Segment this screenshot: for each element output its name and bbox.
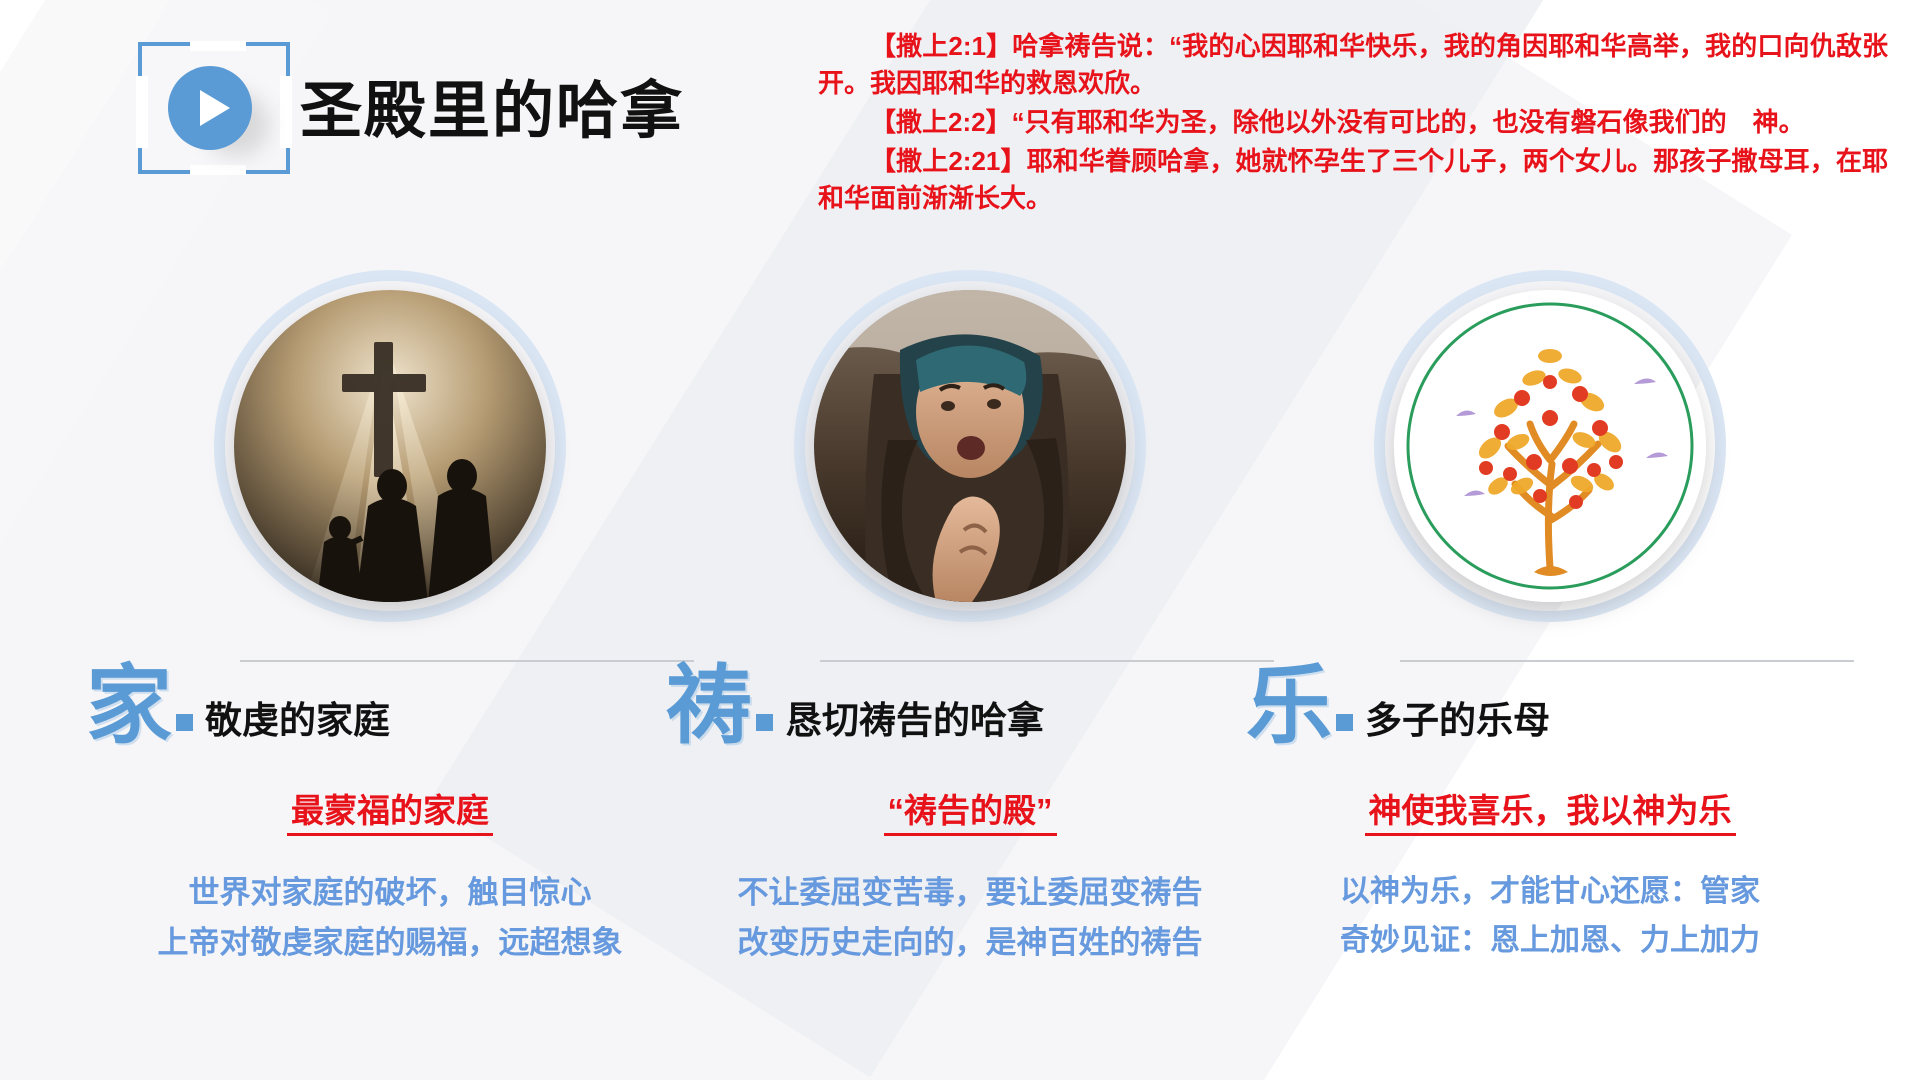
blue-line: 改变历史走向的，是神百姓的祷告 bbox=[660, 918, 1280, 968]
woman-praying-photo bbox=[814, 290, 1126, 602]
red-subtitle-text: 最蒙福的家庭 bbox=[287, 792, 493, 836]
photo-wrap-joy bbox=[1374, 270, 1726, 622]
blue-line: 上帝对敬虔家庭的赐福，远超想象 bbox=[80, 918, 700, 968]
blue-body-family: 世界对家庭的破坏，触目惊心 上帝对敬虔家庭的赐福，远超想象 bbox=[80, 868, 700, 968]
logo-block bbox=[138, 42, 290, 174]
heading-rule bbox=[240, 660, 694, 662]
column-family: 家 敬虔的家庭 最蒙福的家庭 世界对家庭的破坏，触目惊心 上帝对敬虔家庭的赐福，… bbox=[80, 270, 700, 968]
red-subtitle-text: “祷告的殿” bbox=[884, 792, 1057, 836]
scripture-verse-1: 【撒上2:1】哈拿祷告说：“我的心因耶和华快乐，我的角因耶和华高举，我的口向仇敌… bbox=[818, 28, 1888, 102]
blue-line: 世界对家庭的破坏，触目惊心 bbox=[80, 868, 700, 918]
scripture-verse-3: 【撒上2:21】耶和华眷顾哈拿，她就怀孕生了三个儿子，两个女儿。那孩子撒母耳，在… bbox=[818, 143, 1888, 217]
blue-body-prayer: 不让委屈变苦毒，要让委屈变祷告 改变历史走向的，是神百姓的祷告 bbox=[660, 868, 1280, 968]
heading-row-prayer: 祷 恳切祷告的哈拿 bbox=[660, 652, 1280, 762]
big-character-family: 家 bbox=[86, 666, 172, 747]
blue-line: 不让委屈变苦毒，要让委屈变祷告 bbox=[660, 868, 1280, 918]
red-subtitle-text: 神使我喜乐，我以神为乐 bbox=[1365, 792, 1736, 836]
heading-subtitle-family: 敬虔的家庭 bbox=[205, 702, 390, 747]
heading-subtitle-prayer: 恳切祷告的哈拿 bbox=[785, 702, 1044, 747]
heading-row-joy: 乐 多子的乐母 bbox=[1240, 652, 1860, 762]
heading-row-family: 家 敬虔的家庭 bbox=[80, 652, 700, 762]
photo-wrap-family bbox=[214, 270, 566, 622]
silhouette-family-at-cross-photo bbox=[234, 290, 546, 602]
logo-frame-gap-top bbox=[190, 41, 246, 51]
logo-frame-gap-bottom bbox=[190, 165, 246, 175]
page-title: 圣殿里的哈拿 bbox=[300, 60, 684, 150]
heading-subtitle-joy: 多子的乐母 bbox=[1365, 702, 1550, 747]
heading-line: 乐 多子的乐母 bbox=[1246, 666, 1550, 747]
red-subtitle-prayer: “祷告的殿” bbox=[660, 784, 1280, 832]
heading-rule bbox=[820, 660, 1274, 662]
red-subtitle-joy: 神使我喜乐，我以神为乐 bbox=[1240, 784, 1860, 832]
scripture-verse-2: 【撒上2:2】“只有耶和华为圣，除他以外没有可比的，也没有磐石像我们的 神。 bbox=[818, 104, 1888, 141]
blue-line: 奇妙见证：恩上加恩、力上加力 bbox=[1240, 917, 1860, 966]
big-dot-marker bbox=[756, 714, 773, 731]
play-button-icon bbox=[168, 66, 252, 150]
scripture-block: 【撒上2:1】哈拿祷告说：“我的心因耶和华快乐，我的角因耶和华高举，我的口向仇敌… bbox=[818, 28, 1888, 219]
play-triangle-icon bbox=[200, 90, 230, 126]
heading-line: 家 敬虔的家庭 bbox=[86, 666, 390, 747]
red-subtitle-family: 最蒙福的家庭 bbox=[80, 784, 700, 832]
blue-line: 以神为乐，才能甘心还愿：管家 bbox=[1240, 868, 1860, 917]
big-character-prayer: 祷 bbox=[666, 666, 752, 747]
heading-line: 祷 恳切祷告的哈拿 bbox=[666, 666, 1044, 747]
big-dot-marker bbox=[1336, 714, 1353, 731]
column-joy: 乐 多子的乐母 神使我喜乐，我以神为乐 以神为乐，才能甘心还愿：管家 奇妙见证：… bbox=[1240, 270, 1860, 965]
heading-rule bbox=[1400, 660, 1854, 662]
photo-wrap-prayer bbox=[794, 270, 1146, 622]
big-dot-marker bbox=[176, 714, 193, 731]
column-prayer: 祷 恳切祷告的哈拿 “祷告的殿” 不让委屈变苦毒，要让委屈变祷告 改变历史走向的… bbox=[660, 270, 1280, 968]
big-character-joy: 乐 bbox=[1246, 666, 1332, 747]
blue-body-joy: 以神为乐，才能甘心还愿：管家 奇妙见证：恩上加恩、力上加力 bbox=[1240, 868, 1860, 965]
fruit-tree-with-birds-illustration bbox=[1394, 290, 1706, 602]
